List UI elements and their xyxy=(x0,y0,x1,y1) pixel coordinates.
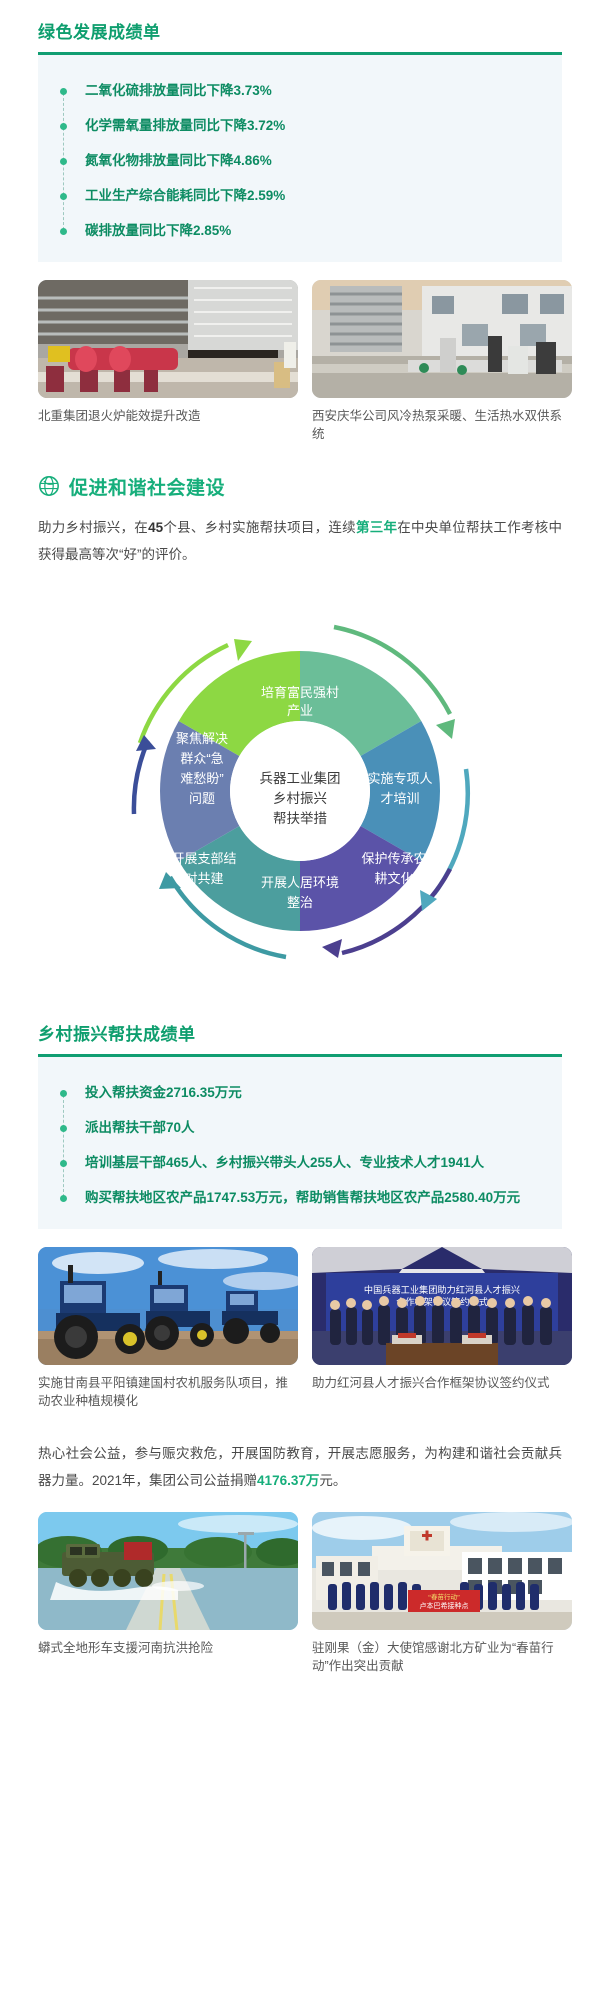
donut-label-0-line1: 产业 xyxy=(287,703,313,718)
banner-text-line-1: 卢本巴希接种点 xyxy=(420,1601,469,1610)
photo-cell: “春苗行动” 卢本巴希接种点 驻刚果（金）大使馆感谢北方矿业为“春苗行动”作出突… xyxy=(312,1512,572,1675)
para-highlight-year: 第三年 xyxy=(356,520,397,535)
green-photo-row: 北重集团退火炉能效提升改造 xyxy=(38,280,562,443)
arrow-head-top-left xyxy=(234,639,252,661)
photo-cell: 蟒式全地形车支援河南抗洪抢险 xyxy=(38,1512,298,1675)
green-scorecard-title: 绿色发展成绩单 xyxy=(38,18,562,52)
para-part: 元。 xyxy=(319,1473,346,1488)
donut-label-2-line1: 耕文化 xyxy=(374,871,413,886)
donut-svg: 兵器工业集团 乡村振兴 帮扶举措 培育富民强村 产业 实施专项人 才培训 保护传… xyxy=(80,586,520,986)
photo-caption: 助力红河县人才振兴合作框架协议签约仪式 xyxy=(312,1374,572,1392)
green-scorecard-body: 二氧化硫排放量同比下降3.73% 化学需氧量排放量同比下降3.72% 氮氧化物排… xyxy=(38,55,562,262)
banner-text-line-0: “春苗行动” xyxy=(428,1592,460,1601)
photo-caption: 实施甘南县平阳镇建国村农机服务队项目，推动农业种植规模化 xyxy=(38,1374,298,1410)
para-highlight-count: 45 xyxy=(148,520,163,535)
photo-cell: 实施甘南县平阳镇建国村农机服务队项目，推动农业种植规模化 xyxy=(38,1247,298,1410)
para-part: 助力乡村振兴，在 xyxy=(38,520,148,535)
photo-cell: 北重集团退火炉能效提升改造 xyxy=(38,280,298,443)
rural-measures-donut-chart: 兵器工业集团 乡村振兴 帮扶举措 培育富民强村 产业 实施专项人 才培训 保护传… xyxy=(0,586,600,986)
harmony-paragraph: 助力乡村振兴，在45个县、乡村实施帮扶项目，连续第三年在中央单位帮扶工作考核中获… xyxy=(38,514,562,568)
donut-label-1-line1: 才培训 xyxy=(380,791,419,806)
donut-label-3-line1: 整治 xyxy=(287,895,313,910)
photo-signing-ceremony: 中国兵器工业集团助力红河县人才振兴 合作框架协议签约仪式 xyxy=(312,1247,572,1365)
list-item: 投入帮扶资金2716.35万元 xyxy=(60,1083,556,1104)
arrow-head-left xyxy=(136,735,156,751)
list-item: 化学需氧量排放量同比下降3.72% xyxy=(60,116,556,137)
photo-caption: 北重集团退火炉能效提升改造 xyxy=(38,407,298,425)
photo-vaccination-site: “春苗行动” 卢本巴希接种点 xyxy=(312,1512,572,1630)
donut-label-0-line0: 培育富民强村 xyxy=(261,685,339,700)
rural-scorecard-body: 投入帮扶资金2716.35万元 派出帮扶干部70人 培训基层干部465人、乡村振… xyxy=(38,1057,562,1229)
donut-center-line-2: 帮扶举措 xyxy=(273,811,327,826)
donut-label-4-line0: 开展支部结 xyxy=(171,851,236,866)
arrow-left xyxy=(134,741,148,814)
donut-label-5-line2: 难愁盼” xyxy=(180,771,223,786)
donut-label-5-line0: 聚焦解决 xyxy=(176,731,228,746)
photo-heatpump xyxy=(312,280,572,398)
photo-caption: 蟒式全地形车支援河南抗洪抢险 xyxy=(38,1639,298,1657)
donut-label-5-line3: 问题 xyxy=(189,791,215,806)
harmony-heading-text: 促进和谐社会建设 xyxy=(69,473,225,500)
donut-center-line-0: 兵器工业集团 xyxy=(260,771,341,786)
charity-paragraph: 热心社会公益，参与赈灾救危，开展国防教育，开展志愿服务，为构建和谐社会贡献兵器力… xyxy=(38,1440,562,1494)
list-item: 派出帮扶干部70人 xyxy=(60,1118,556,1139)
list-item: 碳排放量同比下降2.85% xyxy=(60,221,556,242)
list-item: 购买帮扶地区农产品1747.53万元，帮助销售帮扶地区农产品2580.40万元 xyxy=(60,1188,556,1209)
rural-photo-row: 实施甘南县平阳镇建国村农机服务队项目，推动农业种植规模化 中国兵器工业集团助力红… xyxy=(38,1247,562,1410)
rural-scorecard-title: 乡村振兴帮扶成绩单 xyxy=(38,1020,562,1054)
photo-cell: 中国兵器工业集团助力红河县人才振兴 合作框架协议签约仪式 xyxy=(312,1247,572,1410)
photo-caption: 西安庆华公司风冷热泵采暖、生活热水双供系统 xyxy=(312,407,572,443)
donut-center-line-1: 乡村振兴 xyxy=(273,791,327,806)
photo-cell: 西安庆华公司风冷热泵采暖、生活热水双供系统 xyxy=(312,280,572,443)
screen-text-line-0: 中国兵器工业集团助力红河县人才振兴 xyxy=(364,1284,520,1295)
rural-scorecard: 乡村振兴帮扶成绩单 投入帮扶资金2716.35万元 派出帮扶干部70人 培训基层… xyxy=(38,1020,562,1229)
page-root: 绿色发展成绩单 二氧化硫排放量同比下降3.73% 化学需氧量排放量同比下降3.7… xyxy=(0,0,600,1691)
photo-tractors xyxy=(38,1247,298,1365)
list-item: 工业生产综合能耗同比下降2.59% xyxy=(60,186,556,207)
list-item: 培训基层干部465人、乡村振兴带头人255人、专业技术人才1941人 xyxy=(60,1153,556,1174)
charity-photo-row: 蟒式全地形车支援河南抗洪抢险 xyxy=(38,1512,562,1675)
list-item: 氮氧化物排放量同比下降4.86% xyxy=(60,151,556,172)
green-scorecard-list: 二氧化硫排放量同比下降3.73% 化学需氧量排放量同比下降3.72% 氮氧化物排… xyxy=(60,81,556,242)
donut-label-4-line1: 对共建 xyxy=(184,871,223,886)
donut-label-3-line0: 开展人居环境 xyxy=(261,875,339,890)
arrow-head-bottom-left xyxy=(159,872,181,889)
donut-label-5-line1: 群众“急 xyxy=(180,751,223,766)
arrow-head-top-right xyxy=(436,719,455,739)
harmony-section-heading: 促进和谐社会建设 xyxy=(38,473,562,500)
rural-scorecard-list: 投入帮扶资金2716.35万元 派出帮扶干部70人 培训基层干部465人、乡村振… xyxy=(60,1083,556,1209)
arrow-head-bottom-right xyxy=(322,939,342,958)
donut-label-2-line0: 保护传承农 xyxy=(361,851,426,866)
photo-caption: 驻刚果（金）大使馆感谢北方矿业为“春苗行动”作出突出贡献 xyxy=(312,1639,572,1675)
globe-icon xyxy=(38,475,60,497)
photo-furnace xyxy=(38,280,298,398)
photo-amphibious-vehicle xyxy=(38,1512,298,1630)
donut-label-1-line0: 实施专项人 xyxy=(367,771,432,786)
para-part: 个县、乡村实施帮扶项目，连续 xyxy=(163,520,356,535)
list-item: 二氧化硫排放量同比下降3.73% xyxy=(60,81,556,102)
green-scorecard: 绿色发展成绩单 二氧化硫排放量同比下降3.73% 化学需氧量排放量同比下降3.7… xyxy=(38,18,562,262)
para-highlight-donation: 4176.37万 xyxy=(257,1473,319,1488)
